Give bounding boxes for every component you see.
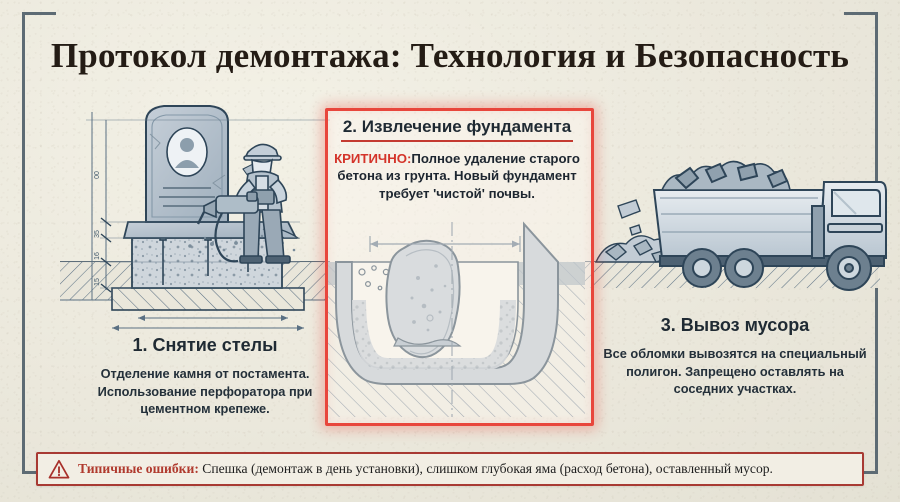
warning-label: Типичные ошибки: [78,461,199,476]
illustration-layer: 00 35 16 15 [0,0,900,502]
step1-body: Отделение камня от постамента. Использов… [78,365,332,418]
step3-heading: 3. Вывоз мусора [600,315,870,336]
dim-label-3: 15 [94,278,101,286]
dim-label-1: 35 [94,230,101,238]
dim-label-0: 00 [94,171,101,179]
step3-body: Все обломки вывозятся на специальный пол… [595,345,875,398]
step2-heading: 2. Извлечение фундамента [341,118,573,142]
warning-bar: Типичные ошибки: Спешка (демонтаж в день… [36,452,864,486]
warning-text: Типичные ошибки: Спешка (демонтаж в день… [78,461,773,477]
dim-label-2: 16 [94,252,101,260]
step2-heading-wrap: 2. Извлечение фундамента [332,118,582,142]
warning-body: Спешка (демонтаж в день установки), слиш… [199,461,773,476]
warning-triangle-icon [48,459,70,479]
step2-body: КРИТИЧНО:Полное удаление старого бетона … [330,150,584,202]
step1-heading: 1. Снятие стелы [85,335,325,356]
infographic-canvas: Протокол демонтажа: Технология и Безопас… [0,0,900,502]
critical-label: КРИТИЧНО: [334,151,411,166]
illustration-foundation-extraction [328,222,585,420]
illustration-monument-removal: 00 35 16 15 [60,106,330,331]
illustration-debris-removal [585,161,886,290]
